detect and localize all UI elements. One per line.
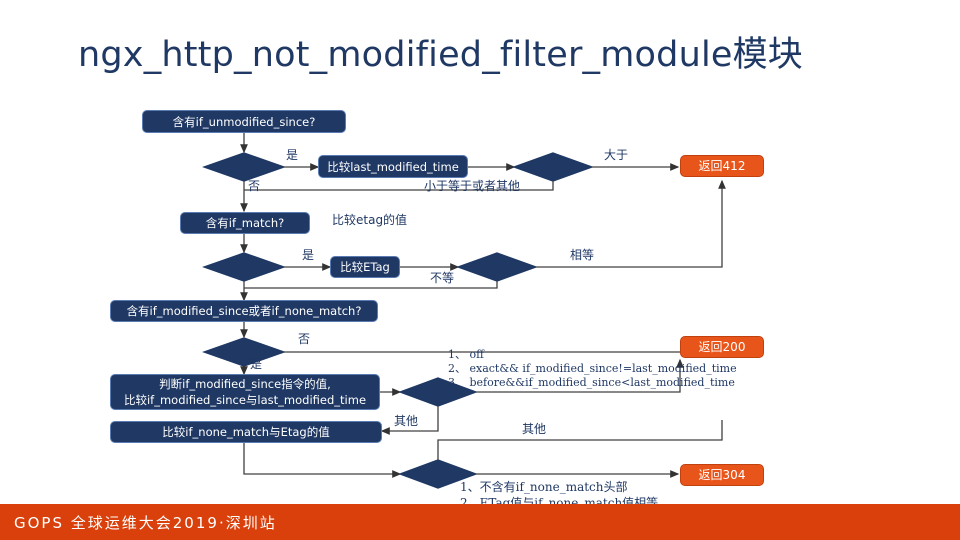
node-compare-etag[interactable]: 比较ETag — [330, 256, 400, 278]
edge-label-less-or-equal-or-other: 小于等于或者其他 — [424, 177, 520, 194]
footer-text: GOPS 全球运维大会2019·深圳站 — [14, 512, 277, 533]
node-has-if-modified-since-or-if-none-match[interactable]: 含有if_modified_since或者if_none_match? — [110, 300, 378, 322]
node-has-if-unmodified-since[interactable]: 含有if_unmodified_since? — [142, 110, 346, 133]
note-compare-etag-value: 比较etag的值 — [332, 211, 407, 228]
node-judge-if-modified-since[interactable]: 判断if_modified_since指令的值, 比较if_modified_s… — [110, 374, 380, 410]
footer-bar: GOPS 全球运维大会2019·深圳站 — [0, 504, 960, 540]
flowchart-connectors — [0, 0, 960, 540]
node-has-if-match[interactable]: 含有if_match? — [180, 212, 310, 234]
edge-label-yes-unmodified: 是 — [286, 146, 298, 163]
edge-label-no-unmodified: 否 — [248, 177, 260, 194]
edge-label-yes-modified-since: 是 — [250, 355, 262, 372]
terminal-return-412[interactable]: 返回412 — [680, 155, 764, 177]
node-compare-last-modified-time[interactable]: 比较last_modified_time — [318, 155, 468, 178]
edge-label-greater-than: 大于 — [604, 146, 628, 163]
flowchart: 含有if_unmodified_since? 比较last_modified_t… — [0, 0, 960, 540]
edge-label-yes-if-match: 是 — [302, 246, 314, 263]
note-list-return-200-conditions: 1、 off 2、 exact&& if_modified_since!=las… — [448, 348, 737, 390]
edge-label-not-equal: 不等 — [430, 269, 454, 286]
terminal-return-304[interactable]: 返回304 — [680, 464, 764, 486]
node-compare-if-none-match-etag[interactable]: 比较if_none_match与Etag的值 — [110, 421, 382, 443]
edge-label-equal: 相等 — [570, 246, 594, 263]
edge-label-other-2: 其他 — [522, 420, 546, 437]
slide-canvas: ngx_http_not_modified_filter_module模块 — [0, 0, 960, 540]
edge-label-other-1: 其他 — [394, 412, 418, 429]
edge-label-no-modified-since: 否 — [298, 330, 310, 347]
